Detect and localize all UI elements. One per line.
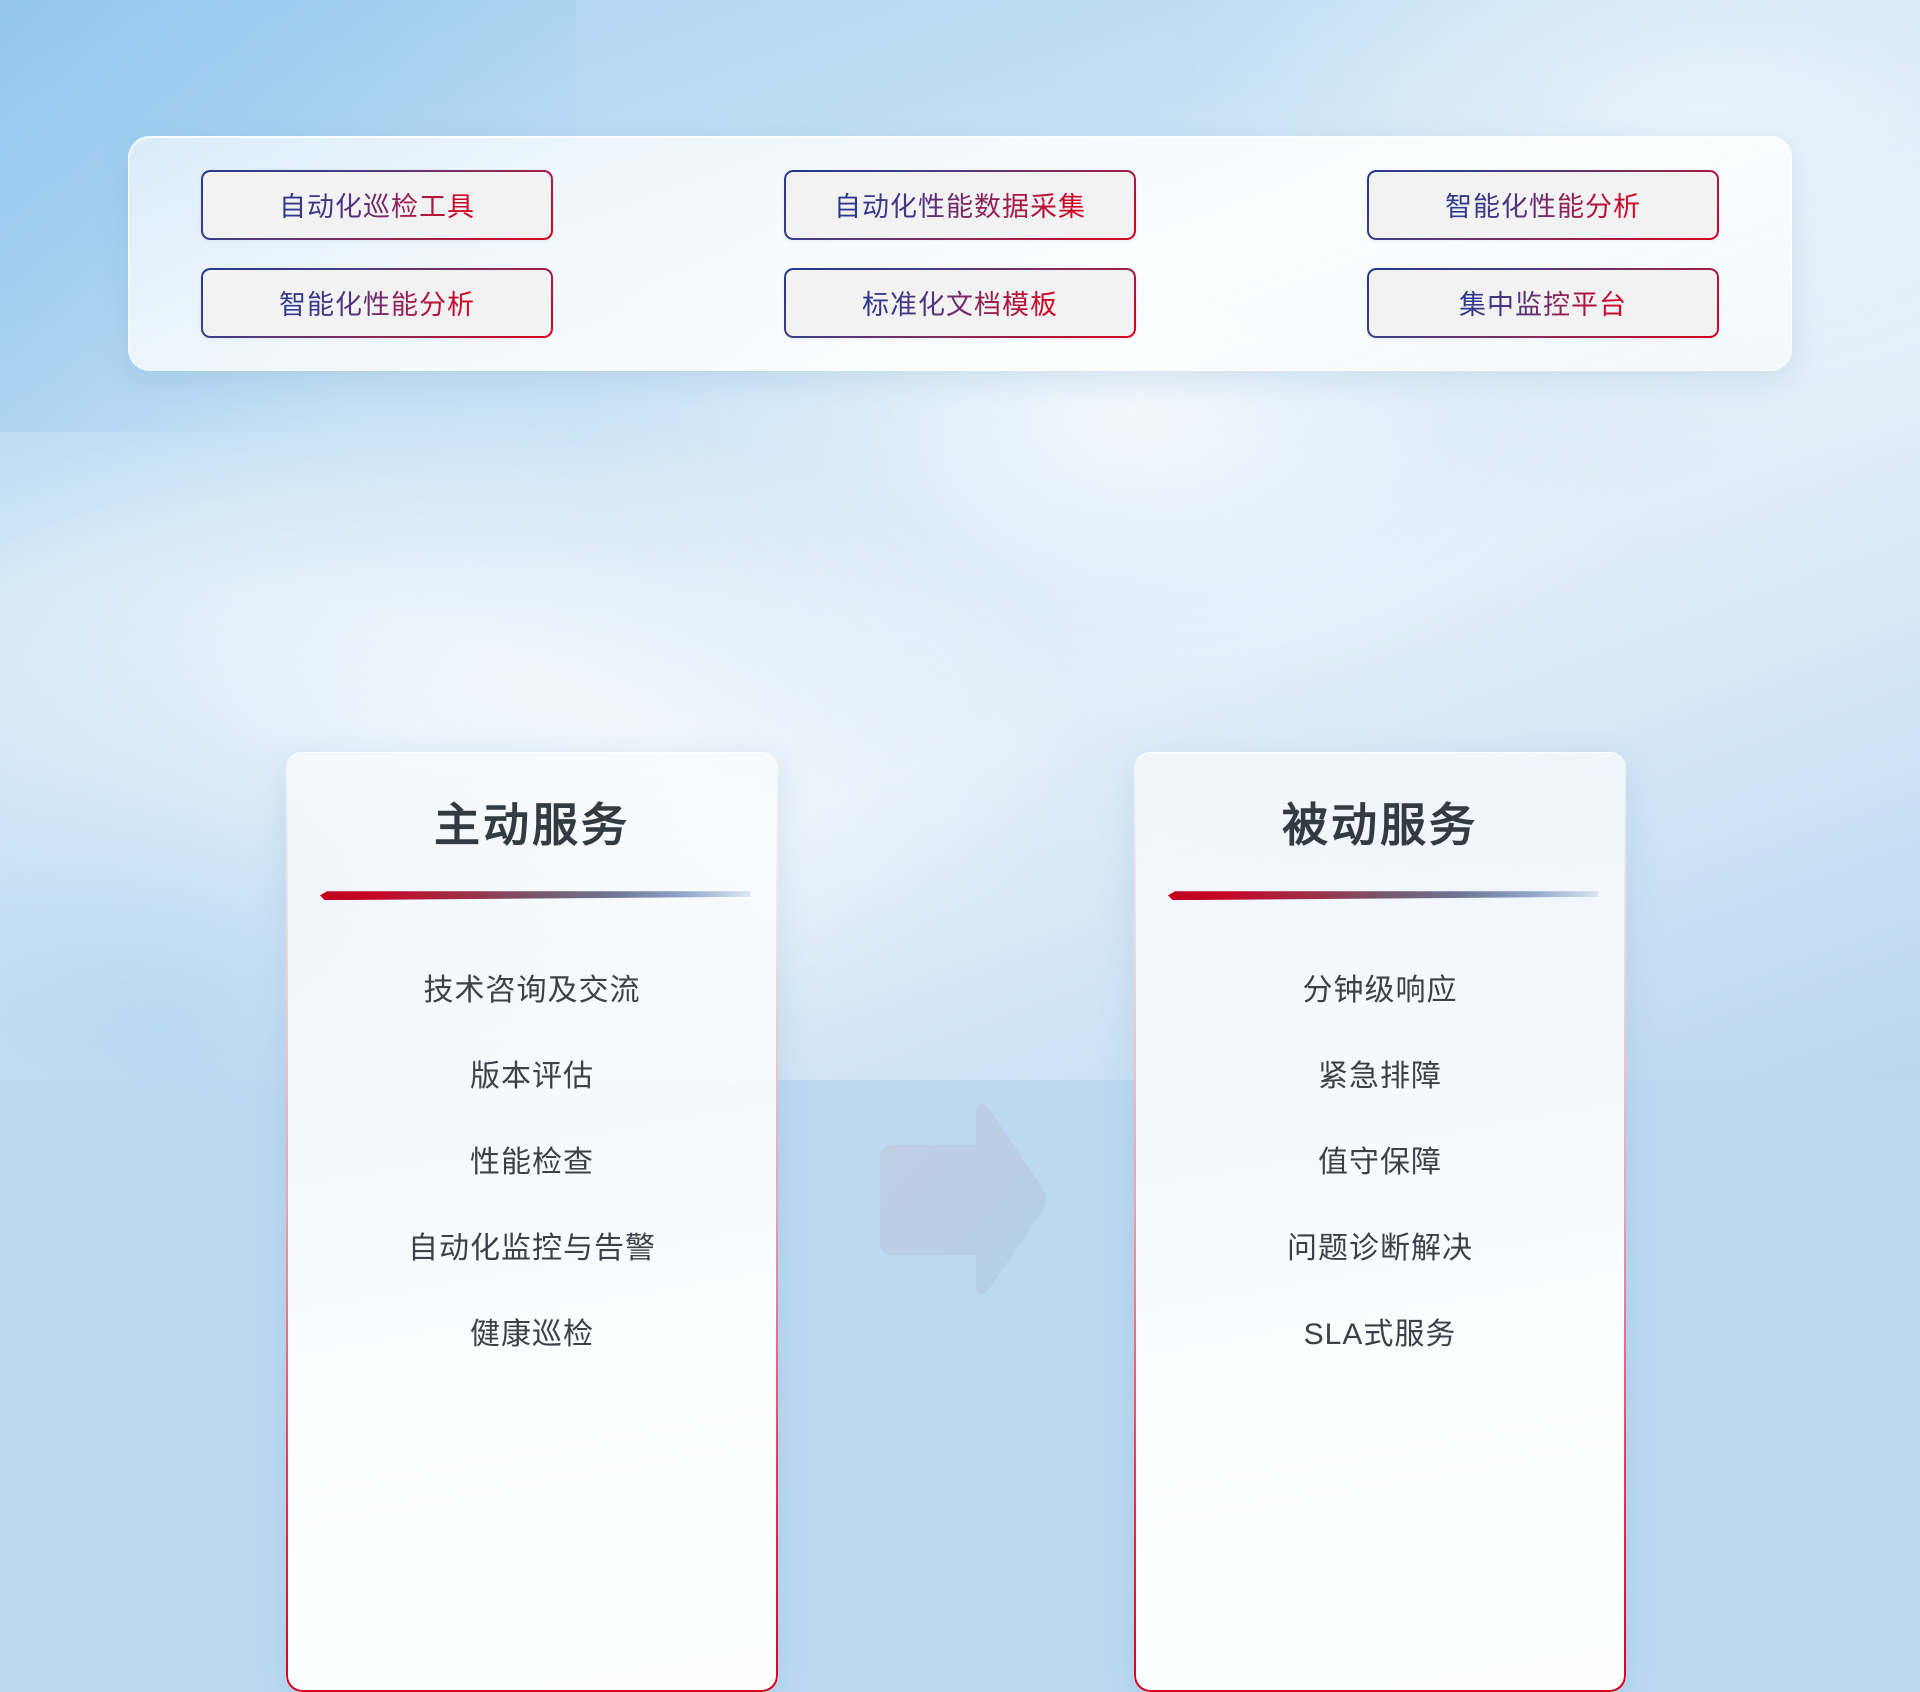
- capability-row-1: 自动化巡检工具 自动化性能数据采集 智能化性能分析: [201, 170, 1719, 240]
- capability-pill-label: 自动化巡检工具: [279, 185, 475, 224]
- service-list-item: 紧急排障: [1318, 1034, 1442, 1120]
- capability-pill-intelligent-performance-analysis-2[interactable]: 智能化性能分析: [201, 268, 553, 338]
- service-list-item: 技术咨询及交流: [424, 948, 641, 1034]
- capability-pill-label: 智能化性能分析: [279, 283, 475, 322]
- title-divider: [1168, 891, 1598, 900]
- service-list-item: 性能检查: [470, 1120, 594, 1206]
- capability-pill-label: 集中监控平台: [1459, 283, 1627, 322]
- service-item-list: 技术咨询及交流 版本评估 性能检查 自动化监控与告警 健康巡检: [320, 948, 744, 1378]
- service-card-proactive-body: 主动服务 技术咨询及交流 版本评估 性能检查 自动化监控与告警 健康巡检: [286, 752, 778, 1692]
- capability-pill-intelligent-performance-analysis-1[interactable]: 智能化性能分析: [1367, 170, 1719, 240]
- service-card-title: 主动服务: [320, 798, 744, 853]
- capability-pill-centralized-monitoring-platform[interactable]: 集中监控平台: [1367, 268, 1719, 338]
- right-arrow-icon: [872, 1095, 1050, 1305]
- service-list-item: 版本评估: [470, 1034, 594, 1120]
- service-card-proactive: 主动服务 技术咨询及交流 版本评估 性能检查 自动化监控与告警 健康巡检: [286, 752, 778, 1692]
- capability-panel: 自动化巡检工具 自动化性能数据采集 智能化性能分析 智能化性能分析 标准化文档模…: [128, 136, 1792, 371]
- service-card-reactive: 被动服务 分钟级响应 紧急排障 值守保障 问题诊断解决 SLA式服务: [1134, 752, 1626, 1692]
- capability-pill-label: 标准化文档模板: [862, 283, 1058, 322]
- service-list-item: 值守保障: [1318, 1120, 1442, 1206]
- service-list-item: 问题诊断解决: [1287, 1206, 1473, 1292]
- service-list-item: SLA式服务: [1304, 1292, 1457, 1378]
- title-divider: [320, 891, 750, 900]
- capability-row-2: 智能化性能分析 标准化文档模板 集中监控平台: [201, 268, 1719, 338]
- capability-pill-automated-performance-data-collection[interactable]: 自动化性能数据采集: [784, 170, 1136, 240]
- capability-pill-label: 智能化性能分析: [1445, 185, 1641, 224]
- service-card-reactive-body: 被动服务 分钟级响应 紧急排障 值守保障 问题诊断解决 SLA式服务: [1134, 752, 1626, 1692]
- service-list-item: 健康巡检: [470, 1292, 594, 1378]
- service-item-list: 分钟级响应 紧急排障 值守保障 问题诊断解决 SLA式服务: [1168, 948, 1592, 1378]
- service-card-title: 被动服务: [1168, 798, 1592, 853]
- service-list-item: 分钟级响应: [1303, 948, 1458, 1034]
- capability-pill-standardized-document-template[interactable]: 标准化文档模板: [784, 268, 1136, 338]
- capability-pill-automated-inspection-tool[interactable]: 自动化巡检工具: [201, 170, 553, 240]
- service-list-item: 自动化监控与告警: [408, 1206, 656, 1292]
- capability-pill-label: 自动化性能数据采集: [834, 185, 1086, 224]
